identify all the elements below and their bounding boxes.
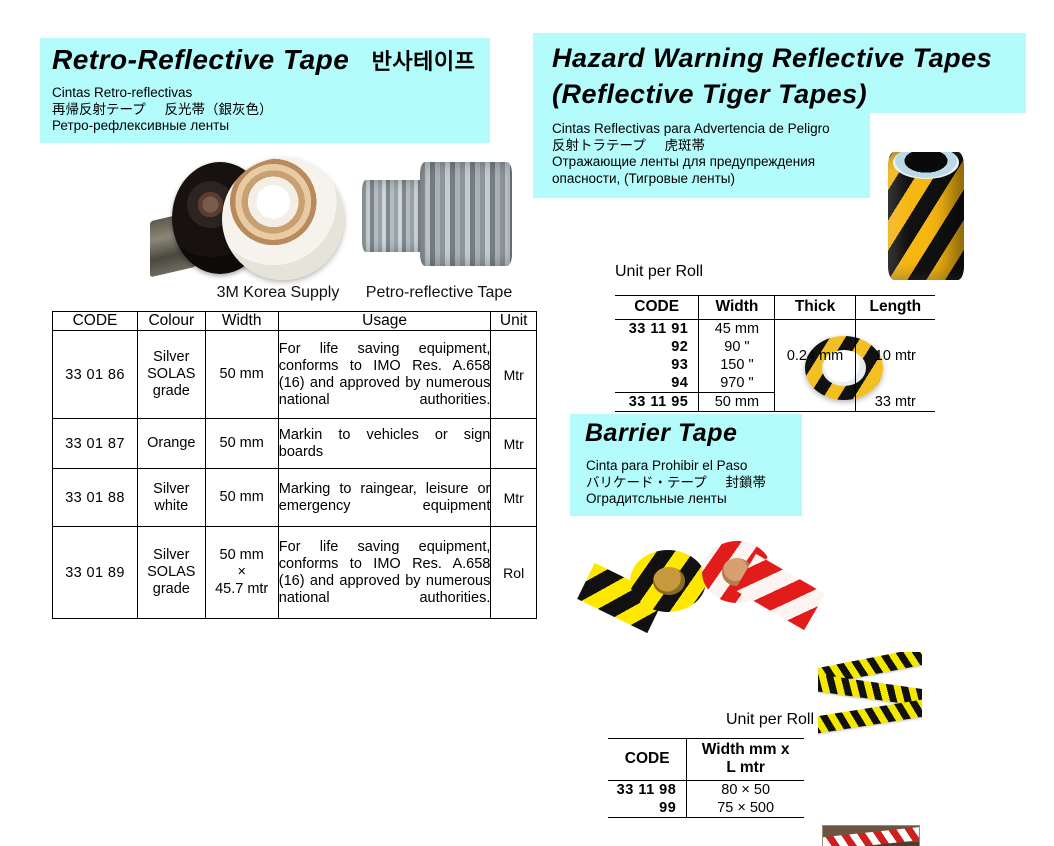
tiger-cylinder-core [893, 152, 960, 179]
retro-unit-0: Mtr [491, 331, 537, 419]
retro-subtitles: Cintas Retro-reflectivas 再帰反射テープ 反光帯（銀灰色… [52, 85, 272, 135]
table-row: 33 01 89 Silver SOLAS grade 50 mm × 45.7… [53, 527, 537, 619]
hazard-length-group2: 33 mtr [855, 393, 935, 412]
barrier-subtitle-ja: バリケード・テープ 封鎖帯 [586, 475, 766, 492]
retro-width-1: 50 mm [205, 419, 278, 469]
retro-usage-3: For life saving equipment, conforms to I… [278, 527, 491, 619]
hazard-thick-blank [775, 393, 855, 412]
retro-subtitle-ru: Ретро-рефлексивные ленты [52, 118, 272, 135]
site-barrier-tape-photo [822, 825, 920, 846]
yb-roll-core [653, 567, 685, 594]
retro-usage-0: For life saving equipment, conforms to I… [278, 331, 491, 419]
retro-usage-2: Marking to raingear, leisure or emergenc… [278, 469, 491, 527]
retro-title-text: Retro-Reflective Tape [52, 44, 349, 75]
barrier-subtitles: Cinta para Prohibir el Paso バリケード・テープ 封鎖… [586, 458, 766, 508]
barrier-tape-red-white-photo [700, 535, 830, 645]
barrier-subtitle-ru: Оградитсльные ленты [586, 491, 766, 508]
table-header-row: CODE Width mm x L mtr [608, 739, 804, 781]
hazard-subtitle-es: Cintas Reflectivas para Advertencia de P… [552, 121, 830, 138]
retro-code-2: 33 01 88 [53, 469, 138, 527]
hazard-code-2: 93 [615, 356, 699, 374]
catalog-page: Retro-Reflective Tape 반사테이프 Cintas Retro… [0, 0, 1054, 846]
retro-th-width: Width [205, 312, 278, 331]
table-row: 33 01 88 Silver white 50 mm Marking to r… [53, 469, 537, 527]
barrier-th-size: Width mm x L mtr [687, 739, 804, 781]
table-row: 33 11 91 45 mm 0.24 mm 10 mtr [615, 320, 935, 339]
retro-photo-caption-right: Petro-reflective Tape [349, 284, 529, 302]
hazard-title-line1: Hazard Warning Reflective Tapes [552, 40, 992, 76]
table-header-row: CODE Width Thick Length [615, 296, 935, 320]
table-row: 33 11 95 50 mm 33 mtr [615, 393, 935, 412]
table-row: 33 01 86 Silver SOLAS grade 50 mm For li… [53, 331, 537, 419]
hazard-thick: 0.24 mm [775, 320, 855, 393]
hazard-section-title: Hazard Warning Reflective Tapes (Reflect… [552, 40, 992, 112]
retro-code-1: 33 01 87 [53, 419, 138, 469]
barrier-code-0: 33 11 98 [608, 781, 687, 800]
retro-unit-1: Mtr [491, 419, 537, 469]
retro-width-0: 50 mm [205, 331, 278, 419]
retro-subtitle-es: Cintas Retro-reflectivas [52, 85, 272, 102]
hazard-width-2: 150 " [699, 356, 775, 374]
hazard-subtitle-ru-1: Отражающие ленты для предупреждения [552, 154, 830, 171]
retro-colour-0: Silver SOLAS grade [138, 331, 206, 419]
barrier-subtitle-es: Cinta para Prohibir el Paso [586, 458, 766, 475]
retro-usage-1: Markin to vehicles or sign boards [278, 419, 491, 469]
hazard-unit-per-roll: Unit per Roll [615, 263, 703, 281]
hazard-width-0: 45 mm [699, 320, 775, 339]
retro-title-korean: 반사테이프 [372, 49, 476, 74]
barrier-section-title: Barrier Tape [585, 419, 737, 448]
barrier-tape-yellow-black-photo [582, 540, 712, 645]
retro-unit-3: Rol [491, 527, 537, 619]
table-row: 33 01 87 Orange 50 mm Markin to vehicles… [53, 419, 537, 469]
retro-th-code: CODE [53, 312, 138, 331]
tiger-tape-cylinder-photo [888, 152, 964, 280]
hazard-width-1: 90 " [699, 338, 775, 356]
retro-th-colour: Colour [138, 312, 206, 331]
table-row: 33 11 98 80 × 50 [608, 781, 804, 800]
retro-width-2: 50 mm [205, 469, 278, 527]
hazard-width-4: 50 mm [699, 393, 775, 412]
hazard-th-thick: Thick [775, 296, 855, 320]
retro-colour-3: Silver SOLAS grade [138, 527, 206, 619]
retro-th-usage: Usage [278, 312, 491, 331]
hazard-subtitle-ru-2: опасности, (Тигровые ленты) [552, 171, 830, 188]
petro-roll-photo [362, 160, 512, 272]
table-row: 99 75 × 500 [608, 799, 804, 818]
barrier-size-0: 80 × 50 [687, 781, 804, 800]
retro-unit-2: Mtr [491, 469, 537, 527]
hazard-code-3: 94 [615, 374, 699, 393]
hazard-subtitle-ja: 反射トラテープ 虎斑帯 [552, 138, 830, 155]
hazard-tape-table: CODE Width Thick Length 33 11 91 45 mm 0… [615, 295, 935, 412]
barrier-unit-per-roll: Unit per Roll [726, 711, 814, 729]
retro-section-title: Retro-Reflective Tape 반사테이프 [52, 44, 475, 76]
barrier-tape-table: CODE Width mm x L mtr 33 11 98 80 × 50 9… [608, 738, 804, 818]
retro-tape-table: CODE Colour Width Usage Unit 33 01 86 Si… [52, 311, 537, 619]
hazard-subtitles: Cintas Reflectivas para Advertencia de P… [552, 121, 830, 187]
crossed-hazard-tape-photo [818, 652, 922, 737]
hazard-th-length: Length [855, 296, 935, 320]
retro-code-0: 33 01 86 [53, 331, 138, 419]
hazard-code-4: 33 11 95 [615, 393, 699, 412]
retro-code-3: 33 01 89 [53, 527, 138, 619]
retro-colour-1: Orange [138, 419, 206, 469]
hazard-width-3: 970 " [699, 374, 775, 393]
retro-width-3: 50 mm × 45.7 mtr [205, 527, 278, 619]
hazard-th-code: CODE [615, 296, 699, 320]
hazard-code-1: 92 [615, 338, 699, 356]
barrier-code-1: 99 [608, 799, 687, 818]
retro-subtitle-ja: 再帰反射テープ 反光帯（銀灰色） [52, 102, 272, 119]
barrier-size-1: 75 × 500 [687, 799, 804, 818]
table-header-row: CODE Colour Width Usage Unit [53, 312, 537, 331]
retro-roll-photo [150, 152, 350, 282]
hazard-length-group1: 10 mtr [855, 320, 935, 393]
hazard-th-width: Width [699, 296, 775, 320]
retro-th-unit: Unit [491, 312, 537, 331]
hazard-code-0: 33 11 91 [615, 320, 699, 339]
barrier-th-code: CODE [608, 739, 687, 781]
retro-colour-2: Silver white [138, 469, 206, 527]
retro-photo-caption-left: 3M Korea Supply [198, 284, 358, 302]
hazard-title-line2: (Reflective Tiger Tapes) [552, 76, 992, 112]
